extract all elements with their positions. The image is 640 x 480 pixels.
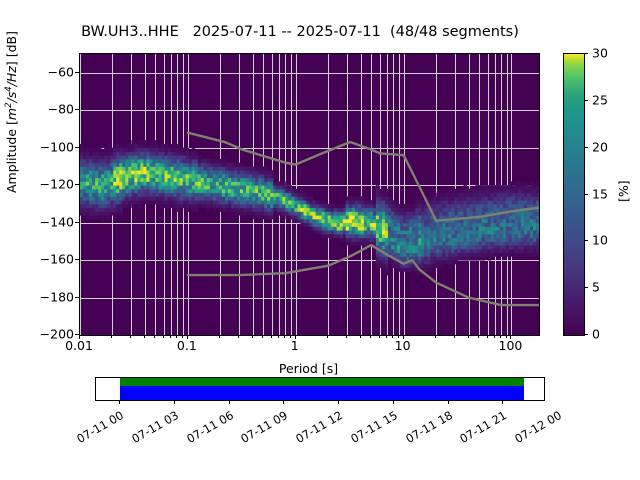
page-title: BW.UH3..HHE 2025-07-11 -- 2025-07-11 (48… [0, 24, 600, 40]
x-axis-minor-tick-mark [478, 335, 479, 338]
x-axis-minor-tick-mark [346, 335, 347, 338]
coverage-tick-mark [502, 400, 503, 404]
x-axis-minor-tick-mark [238, 335, 239, 338]
y-axis-tick-label: −140 [40, 214, 74, 229]
colorbar-tick-mark [584, 194, 588, 195]
colorbar-tick-label: 20 [592, 139, 608, 154]
coverage-tick-label: 07-11 00 [65, 408, 126, 451]
gridline-horizontal [80, 335, 539, 336]
x-axis-minor-tick-mark [144, 335, 145, 338]
colorbar-tick-mark [584, 147, 588, 148]
x-axis-tick-label: 0.1 [177, 338, 197, 353]
coverage-tick-mark [229, 400, 230, 404]
data-coverage-green [120, 378, 524, 386]
colorbar-tick-mark [584, 53, 588, 54]
coverage-tick-label: 07-11 18 [394, 408, 455, 451]
x-axis-minor-tick-mark [379, 335, 380, 338]
x-axis-tick-label: 100 [499, 338, 523, 353]
x-axis-minor-tick-mark [454, 335, 455, 338]
coverage-tick-label: 07-11 03 [120, 408, 181, 451]
y-axis-tick-mark [75, 259, 79, 260]
x-axis-minor-tick-mark [219, 335, 220, 338]
y-axis-tick-label: −60 [48, 64, 74, 79]
ppsd-figure: BW.UH3..HHE 2025-07-11 -- 2025-07-11 (48… [0, 0, 640, 480]
x-axis-label: Period [s] [79, 361, 538, 376]
x-axis-tick-label: 1 [291, 338, 299, 353]
coverage-tick-label: 07-11 09 [229, 408, 290, 451]
coverage-tick-mark [338, 400, 339, 404]
y-axis-tick-mark [75, 184, 79, 185]
x-axis-minor-tick-mark [494, 335, 495, 338]
coverage-tick-mark [174, 400, 175, 404]
y-axis-tick-label: −100 [40, 139, 74, 154]
colorbar-tick-label: 5 [592, 280, 600, 295]
colorbar[interactable] [563, 53, 585, 336]
colorbar-tick-label: 10 [592, 233, 608, 248]
x-axis-minor-tick-mark [154, 335, 155, 338]
colorbar-tick-mark [584, 334, 588, 335]
x-axis-minor-tick-mark [327, 335, 328, 338]
y-axis-tick-label: −180 [40, 289, 74, 304]
coverage-tick-mark [393, 400, 394, 404]
y-axis-tick-mark [75, 72, 79, 73]
coverage-tick-label: 07-11 06 [175, 408, 236, 451]
colorbar-tick-label: 0 [592, 327, 600, 342]
y-axis-tick-label: −160 [40, 252, 74, 267]
ppsd-plot-area[interactable] [79, 53, 540, 336]
colorbar-tick-mark [584, 100, 588, 101]
y-axis-label: Amplitude [m2/s4/Hz] [dB] [4, 31, 19, 193]
coverage-tick-mark [448, 400, 449, 404]
coverage-tick-mark [283, 400, 284, 404]
x-axis-minor-tick-mark [487, 335, 488, 338]
x-axis-minor-tick-mark [284, 335, 285, 338]
x-axis-minor-tick-mark [111, 335, 112, 338]
colorbar-tick-label: 30 [592, 46, 608, 61]
x-axis-minor-tick-mark [360, 335, 361, 338]
y-axis-tick-label: −120 [40, 177, 74, 192]
coverage-tick-label: 07-11 12 [284, 408, 345, 451]
noise-model-curves [80, 54, 539, 335]
x-axis-tick-label: 10 [395, 338, 411, 353]
coverage-tick-label: 07-12 00 [503, 408, 564, 451]
colorbar-tick-mark [584, 240, 588, 241]
coverage-tick-label: 07-11 21 [449, 408, 510, 451]
colorbar-tick-label: 25 [592, 92, 608, 107]
y-axis-tick-mark [75, 222, 79, 223]
y-axis-tick-mark [75, 109, 79, 110]
x-axis-minor-tick-mark [271, 335, 272, 338]
x-axis-minor-tick-mark [386, 335, 387, 338]
x-axis-minor-tick-mark [163, 335, 164, 338]
x-axis-tick-label: 0.01 [65, 338, 93, 353]
y-axis-tick-mark [75, 297, 79, 298]
data-coverage-axes[interactable] [95, 377, 545, 401]
colorbar-tick-label: 15 [592, 186, 608, 201]
x-axis-minor-tick-mark [435, 335, 436, 338]
y-axis-tick-mark [75, 147, 79, 148]
x-axis-minor-tick-mark [170, 335, 171, 338]
x-axis-minor-tick-mark [278, 335, 279, 338]
x-axis-minor-tick-mark [252, 335, 253, 338]
coverage-tick-mark [119, 400, 120, 404]
x-axis-minor-tick-mark [262, 335, 263, 338]
x-axis-minor-tick-mark [468, 335, 469, 338]
x-axis-minor-tick-mark [370, 335, 371, 338]
x-axis-minor-tick-mark [130, 335, 131, 338]
data-coverage-blue [120, 386, 524, 400]
x-axis-minor-tick-mark [392, 335, 393, 338]
colorbar-tick-mark [584, 287, 588, 288]
colorbar-label: [%] [616, 180, 631, 202]
coverage-tick-label: 07-11 15 [339, 408, 400, 451]
y-axis-tick-label: −80 [48, 102, 74, 117]
